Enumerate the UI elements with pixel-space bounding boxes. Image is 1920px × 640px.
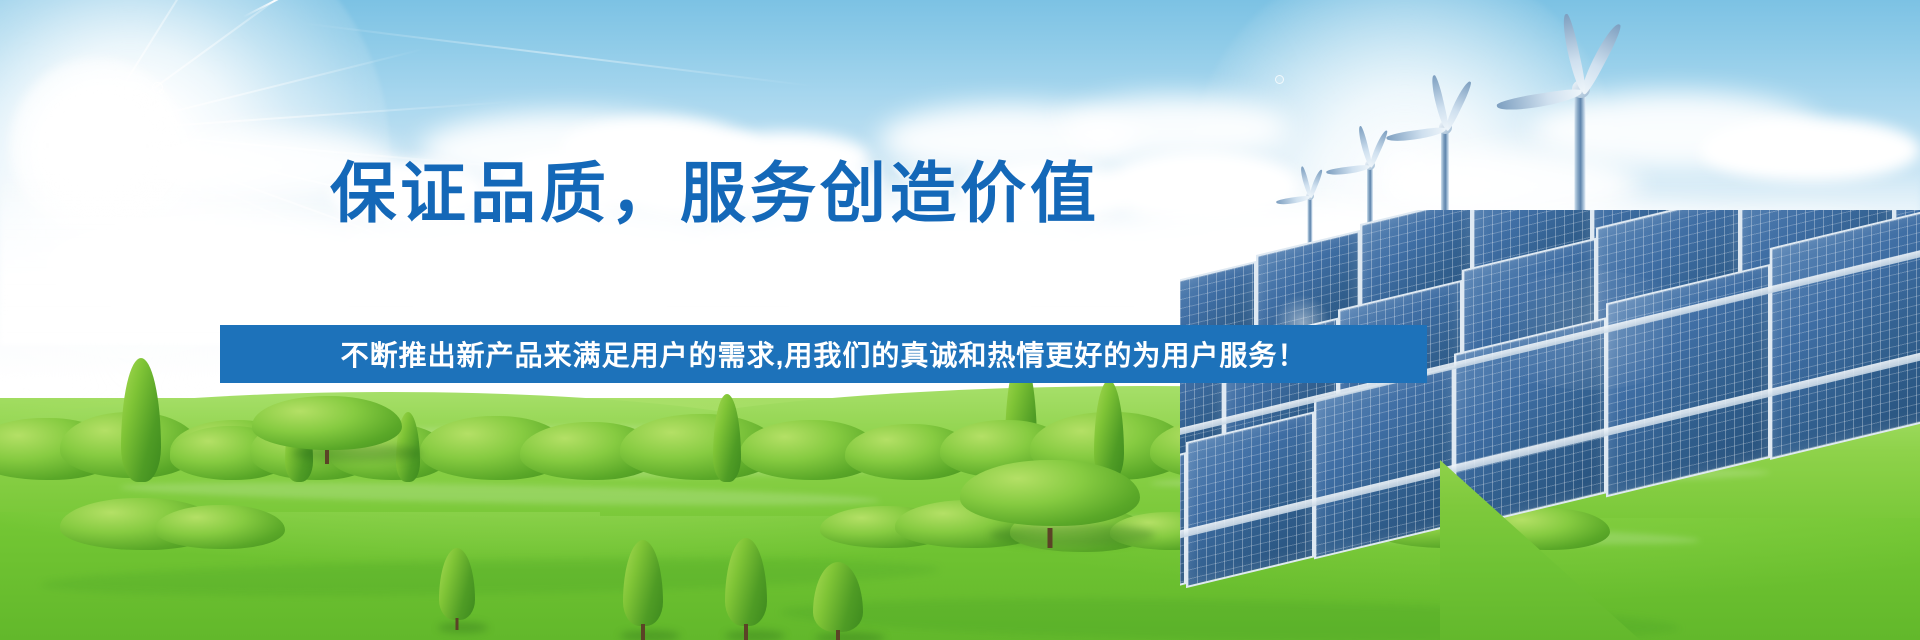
panel-glare [1480,270,1700,390]
turbine-blade [1386,126,1447,143]
cypress-tree [712,394,742,482]
sapling-foliage [813,562,863,632]
hero-banner: 保证品质，服务创造价值 不断推出新产品来满足用户的需求,用我们的真诚和热情更好的… [0,0,1920,640]
solar-panel [1770,210,1920,460]
tree-trunk [325,450,329,464]
tree-canopy [252,396,402,450]
page-title: 保证品质，服务创造价值 [0,160,1430,226]
sapling-foliage [725,538,767,626]
solar-panel [1186,411,1314,588]
lens-flare-dot-icon [1275,75,1284,84]
subtitle-text: 不断推出新产品来满足用户的需求,用我们的真诚和热情更好的为用户服务！ [341,334,1307,374]
sapling-foliage [439,548,475,620]
lens-flare-dot-icon [159,89,164,94]
tree-trunk [641,624,645,640]
sapling [722,538,770,640]
sapling [620,540,666,640]
cypress-foliage [121,358,161,482]
cypress-foliage [713,394,741,482]
sapling [436,548,478,630]
subtitle-bar: 不断推出新产品来满足用户的需求,用我们的真诚和热情更好的为用户服务！ [220,325,1427,383]
tree-trunk [836,630,840,640]
sapling-foliage [623,540,663,626]
turbine-blade [1496,87,1583,113]
cypress-tree [120,358,162,482]
tree-trunk [744,624,748,640]
broadleaf-tree [960,460,1140,536]
broadleaf-tree [252,396,402,456]
tree-trunk [456,618,459,630]
tree-trunk [1048,528,1053,548]
sapling [810,562,866,640]
tree-canopy [960,460,1140,526]
shrub-cluster [155,505,285,549]
